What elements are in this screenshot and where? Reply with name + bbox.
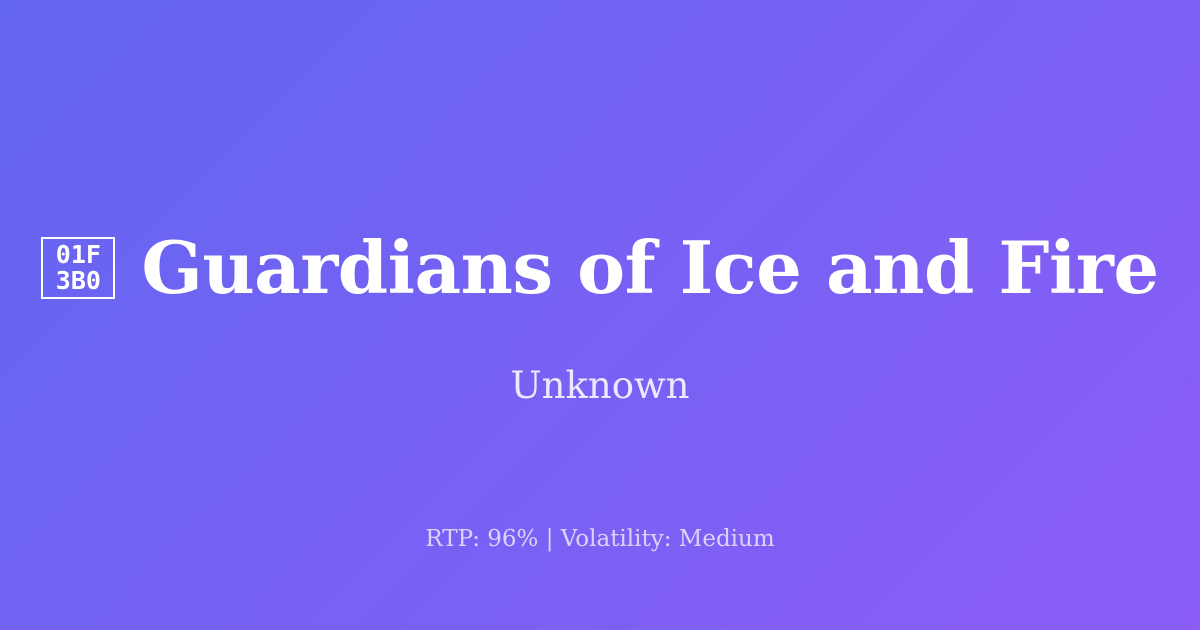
- game-preview-card: 01F 3B0 Guardians of Ice and Fire Unknow…: [0, 0, 1200, 630]
- game-provider-label: Unknown: [0, 367, 1200, 404]
- game-stats-line: RTP: 96% | Volatility: Medium: [0, 528, 1200, 551]
- tofu-codepoint-row-top: 01F: [56, 242, 101, 269]
- game-title: Guardians of Ice and Fire: [141, 232, 1158, 304]
- hero-row: 01F 3B0 Guardians of Ice and Fire: [0, 232, 1200, 304]
- tofu-codepoint-row-bottom: 3B0: [56, 268, 101, 295]
- slot-machine-emoji-icon: 01F 3B0: [41, 237, 115, 299]
